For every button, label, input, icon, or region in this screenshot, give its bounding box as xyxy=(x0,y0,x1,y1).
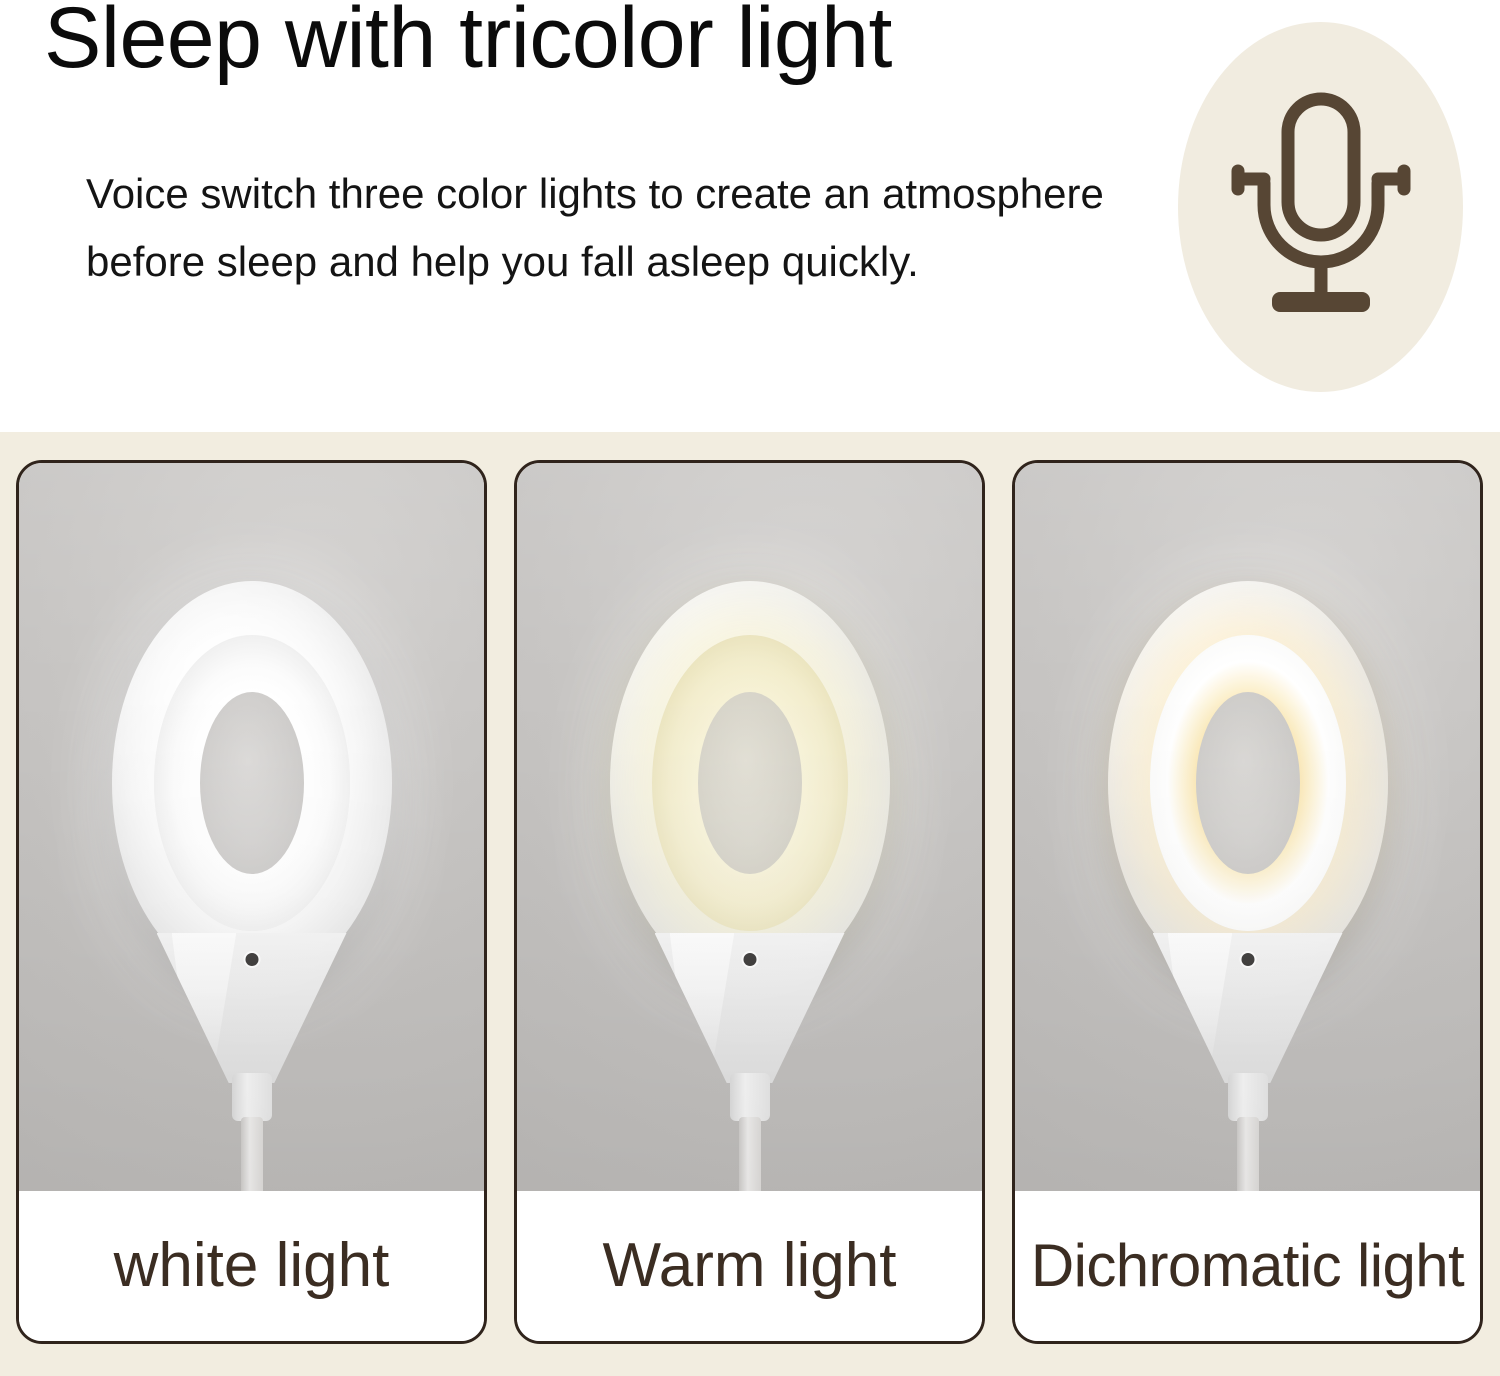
voice-sensor-dot xyxy=(743,953,756,966)
microphone-base xyxy=(1272,292,1370,312)
light-ring-dichromatic xyxy=(1150,635,1346,931)
lamp-neck-collar xyxy=(730,1073,770,1121)
lamp-gooseneck-stem xyxy=(1237,1117,1259,1191)
caption-strip: white light xyxy=(19,1191,484,1341)
header-section: Sleep with tricolor light Voice switch t… xyxy=(0,0,1500,432)
product-photo-white-light xyxy=(19,463,484,1191)
light-mode-card-warm[interactable]: Warm light xyxy=(514,460,985,1344)
lamp-illustration xyxy=(87,581,417,1191)
ring-center-hole xyxy=(1196,692,1300,874)
caption-strip: Warm light xyxy=(517,1191,982,1341)
product-photo-dichromatic-light xyxy=(1015,463,1480,1191)
lamp-neck-collar xyxy=(232,1073,272,1121)
caption-label: white light xyxy=(108,1235,396,1297)
lamp-neck-collar xyxy=(1228,1073,1268,1121)
microphone-icon xyxy=(1216,87,1426,327)
ring-center-hole xyxy=(200,692,304,874)
voice-sensor-dot xyxy=(1241,953,1254,966)
product-photo-warm-light xyxy=(517,463,982,1191)
description-text: Voice switch three color lights to creat… xyxy=(86,160,1116,296)
voice-sensor-dot xyxy=(245,953,258,966)
caption-label: Dichromatic light xyxy=(1025,1236,1470,1296)
ring-center-hole xyxy=(698,692,802,874)
light-ring-warm xyxy=(652,635,848,931)
caption-label: Warm light xyxy=(597,1235,903,1297)
lamp-illustration xyxy=(585,581,915,1191)
lamp-gooseneck-stem xyxy=(241,1117,263,1191)
page-title: Sleep with tricolor light xyxy=(44,0,892,90)
light-mode-card-white[interactable]: white light xyxy=(16,460,487,1344)
light-ring-white xyxy=(154,635,350,931)
light-mode-card-dichromatic[interactable]: Dichromatic light xyxy=(1012,460,1483,1344)
product-feature-image: Sleep with tricolor light Voice switch t… xyxy=(0,0,1500,1376)
lamp-gooseneck-stem xyxy=(739,1117,761,1191)
caption-strip: Dichromatic light xyxy=(1015,1191,1480,1341)
voice-control-badge xyxy=(1178,22,1463,392)
lamp-illustration xyxy=(1083,581,1413,1191)
light-modes-gallery: white light Wa xyxy=(0,432,1500,1376)
